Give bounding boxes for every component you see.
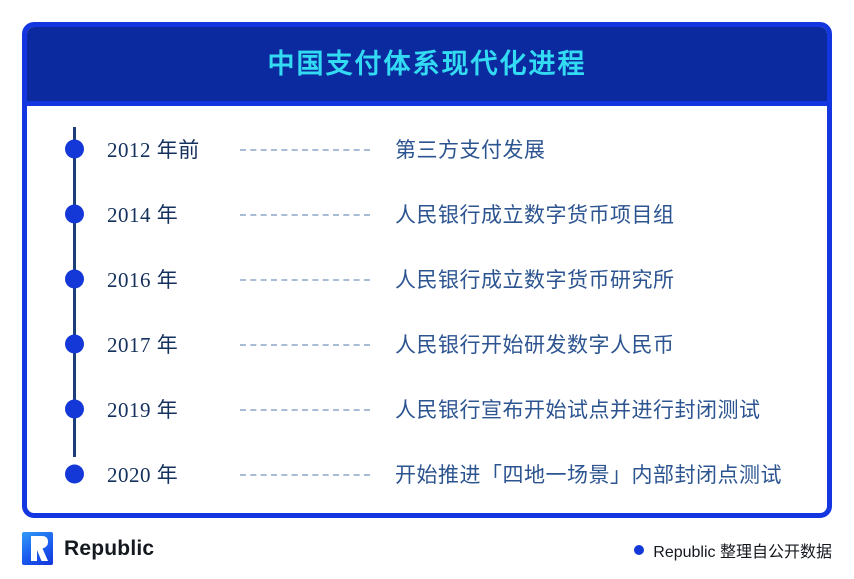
source-note: Republic 整理自公开数据: [634, 538, 832, 562]
timeline-year-label: 2016 年: [107, 264, 237, 294]
source-text: Republic 整理自公开数据: [653, 538, 832, 562]
timeline-row: 2017 年 人民银行开始研发数字人民币: [27, 329, 827, 359]
timeline-connector: [240, 214, 370, 216]
card-header: 中国支付体系现代化进程: [27, 27, 827, 106]
timeline-connector: [240, 344, 370, 346]
footer: Republic Republic 整理自公开数据: [0, 524, 854, 579]
timeline-year-label: 2017 年: [107, 329, 237, 359]
brand-logo: Republic: [22, 532, 154, 565]
timeline-dot-icon: [65, 140, 84, 159]
timeline-year-label: 2012 年前: [107, 134, 237, 164]
timeline-dot-icon: [65, 205, 84, 224]
timeline-connector: [240, 409, 370, 411]
timeline-connector: [240, 279, 370, 281]
timeline-row: 2014 年 人民银行成立数字货币项目组: [27, 199, 827, 229]
timeline-dot-icon: [65, 270, 84, 289]
bullet-dot-icon: [634, 545, 644, 555]
timeline-connector: [240, 149, 370, 151]
timeline-body: 2012 年前 第三方支付发展 2014 年 人民银行成立数字货币项目组 201…: [27, 106, 827, 518]
timeline-year-label: 2019 年: [107, 394, 237, 424]
timeline-event-label: 开始推进「四地一场景」内部封闭点测试: [395, 459, 782, 489]
republic-logo-icon: [22, 532, 53, 565]
timeline-card: 中国支付体系现代化进程 2012 年前 第三方支付发展 2014 年 人民银行成…: [22, 22, 832, 518]
timeline-row: 2016 年 人民银行成立数字货币研究所: [27, 264, 827, 294]
timeline-connector: [240, 474, 370, 476]
timeline-year-label: 2014 年: [107, 199, 237, 229]
timeline-event-label: 人民银行开始研发数字人民币: [395, 329, 675, 359]
timeline-event-label: 人民银行宣布开始试点并进行封闭测试: [395, 394, 761, 424]
timeline-event-label: 人民银行成立数字货币项目组: [395, 199, 675, 229]
timeline-row: 2019 年 人民银行宣布开始试点并进行封闭测试: [27, 394, 827, 424]
timeline-dot-icon: [65, 465, 84, 484]
timeline-dot-icon: [65, 400, 84, 419]
timeline-year-label: 2020 年: [107, 459, 237, 489]
timeline-dot-icon: [65, 335, 84, 354]
timeline-event-label: 人民银行成立数字货币研究所: [395, 264, 675, 294]
timeline-row: 2020 年 开始推进「四地一场景」内部封闭点测试: [27, 459, 827, 489]
page-title: 中国支付体系现代化进程: [268, 51, 587, 78]
infographic-root: 中国支付体系现代化进程 2012 年前 第三方支付发展 2014 年 人民银行成…: [0, 0, 854, 579]
brand-name: Republic: [64, 537, 154, 561]
timeline-row: 2012 年前 第三方支付发展: [27, 134, 827, 164]
timeline-event-label: 第三方支付发展: [395, 134, 546, 164]
